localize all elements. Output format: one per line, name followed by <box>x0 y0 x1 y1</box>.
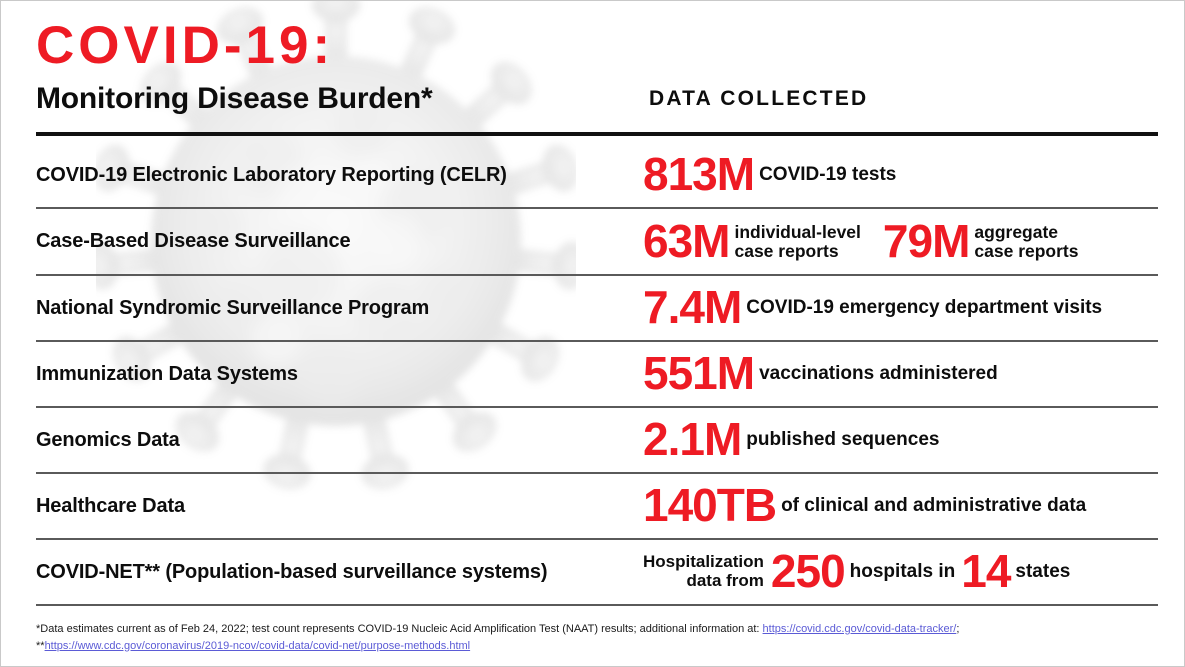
stat-group: Hospitalization data from 250 hospitals … <box>643 550 955 594</box>
stat-unit: COVID-19 tests <box>759 165 896 186</box>
stat-prefix-line-1: Hospitalization <box>643 552 764 571</box>
footnote-secondary: **https://www.cdc.gov/coronavirus/2019-n… <box>36 638 1158 655</box>
stat-group: 14 states <box>961 550 1070 594</box>
row-label: COVID-NET** (Population-based surveillan… <box>36 562 643 583</box>
stat-number: 2.1M <box>643 418 741 462</box>
stat-number: 7.4M <box>643 286 741 330</box>
stat-number: 551M <box>643 352 754 396</box>
covid-data-tracker-link[interactable]: https://covid.cdc.gov/covid-data-tracker… <box>763 623 957 635</box>
footnote-primary-tail: ; <box>956 623 959 635</box>
stat-unit: aggregate case reports <box>974 223 1078 261</box>
row-data: 2.1M published sequences <box>643 418 1158 462</box>
stat-group: 63M individual-level case reports <box>643 220 861 264</box>
infographic-header: COVID-19: Monitoring Disease Burden* DAT… <box>36 1 1158 143</box>
stat-group: 140TB of clinical and administrative dat… <box>643 484 1086 528</box>
row-data: 140TB of clinical and administrative dat… <box>643 484 1158 528</box>
stat-unit: states <box>1015 562 1070 583</box>
stat-number: 14 <box>961 550 1010 594</box>
row-label: Healthcare Data <box>36 496 643 517</box>
stat-unit: COVID-19 emergency department visits <box>746 298 1102 319</box>
stat-number: 813M <box>643 153 754 197</box>
stat-number: 79M <box>883 220 969 264</box>
stat-unit: hospitals in <box>850 562 956 583</box>
page-title: COVID-19: <box>36 19 334 72</box>
row-data: 63M individual-level case reports 79M ag… <box>643 220 1158 264</box>
row-data: Hospitalization data from 250 hospitals … <box>643 550 1158 594</box>
header-divider-rule <box>36 132 1158 136</box>
footnote-secondary-marker: ** <box>36 640 45 652</box>
stat-number: 140TB <box>643 484 776 528</box>
stat-group: 7.4M COVID-19 emergency department visit… <box>643 286 1102 330</box>
stat-number: 63M <box>643 220 729 264</box>
burden-rows-list: COVID-19 Electronic Laboratory Reporting… <box>36 143 1158 606</box>
row-label: National Syndromic Surveillance Program <box>36 298 643 319</box>
stat-unit-line-1: aggregate <box>974 222 1058 242</box>
stat-group: 79M aggregate case reports <box>883 220 1079 264</box>
stat-unit-line-2: case reports <box>974 242 1078 261</box>
covid-net-purpose-methods-link[interactable]: https://www.cdc.gov/coronavirus/2019-nco… <box>45 640 471 652</box>
data-collected-column-header: DATA COLLECTED <box>649 88 868 109</box>
stat-unit: of clinical and administrative data <box>781 496 1086 517</box>
row-data: 551M vaccinations administered <box>643 352 1158 396</box>
table-row: National Syndromic Surveillance Program … <box>36 276 1158 342</box>
table-row: Healthcare Data 140TB of clinical and ad… <box>36 474 1158 540</box>
row-data: 7.4M COVID-19 emergency department visit… <box>643 286 1158 330</box>
stat-unit: published sequences <box>746 430 939 451</box>
row-label: Case-Based Disease Surveillance <box>36 231 643 252</box>
stat-unit-line-2: case reports <box>734 242 860 261</box>
stat-group: 813M COVID-19 tests <box>643 153 896 197</box>
covid-burden-infographic: COVID-19: Monitoring Disease Burden* DAT… <box>0 0 1185 667</box>
table-row: Genomics Data 2.1M published sequences <box>36 408 1158 474</box>
table-row: COVID-19 Electronic Laboratory Reporting… <box>36 143 1158 209</box>
row-label: Immunization Data Systems <box>36 364 643 385</box>
footnotes: *Data estimates current as of Feb 24, 20… <box>36 621 1158 654</box>
footnote-primary-text: Data estimates current as of Feb 24, 202… <box>40 623 759 635</box>
stat-prefix-line-2: data from <box>643 572 764 591</box>
stat-prefix: Hospitalization data from <box>643 553 764 590</box>
page-subtitle: Monitoring Disease Burden* <box>36 84 433 114</box>
table-row: Immunization Data Systems 551M vaccinati… <box>36 342 1158 408</box>
table-row: Case-Based Disease Surveillance 63M indi… <box>36 209 1158 276</box>
stat-group: 2.1M published sequences <box>643 418 940 462</box>
stat-group: 551M vaccinations administered <box>643 352 998 396</box>
row-label: Genomics Data <box>36 430 643 451</box>
row-label: COVID-19 Electronic Laboratory Reporting… <box>36 165 643 186</box>
table-row: COVID-NET** (Population-based surveillan… <box>36 540 1158 606</box>
stat-number: 250 <box>771 550 845 594</box>
footnote-primary: *Data estimates current as of Feb 24, 20… <box>36 621 1158 638</box>
stat-unit-line-1: individual-level <box>734 222 860 242</box>
stat-unit: vaccinations administered <box>759 364 998 385</box>
row-data: 813M COVID-19 tests <box>643 153 1158 197</box>
stat-unit: individual-level case reports <box>734 223 860 261</box>
